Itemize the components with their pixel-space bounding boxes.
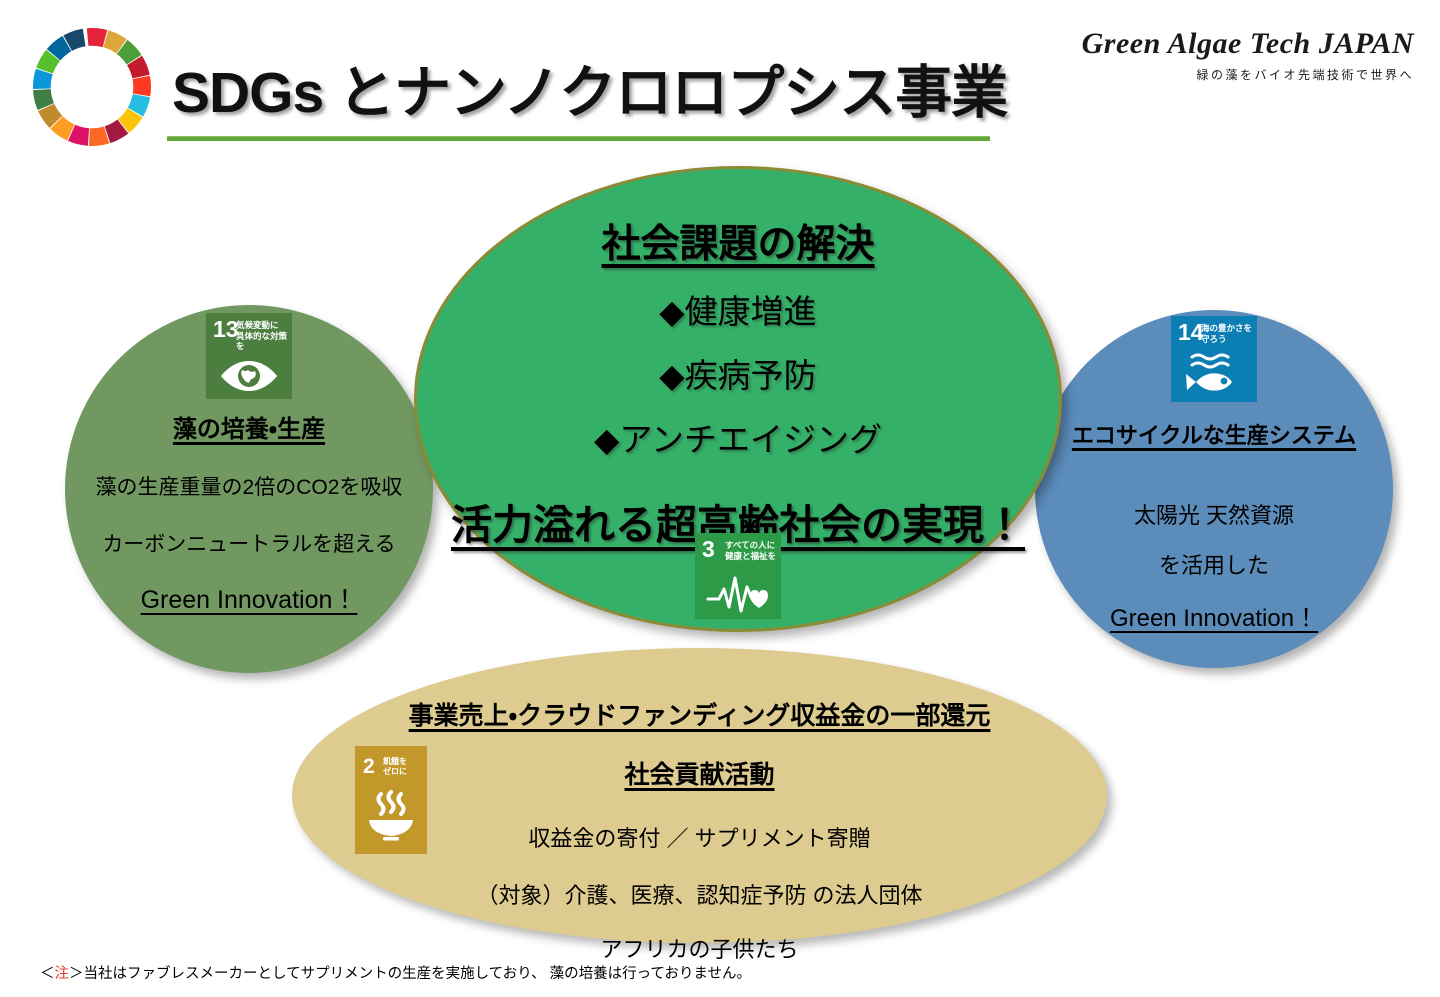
slide-header: SDGs とナンノクロロプシス事業 Green Algae Tech JAPAN…	[0, 0, 1440, 155]
circle-right-text: エコサイクルな生産システム 太陽光 天然資源 を活用した Green Innov…	[1035, 418, 1393, 633]
sdg-badge-13: 13 気候変動に 具体的な対策を	[206, 313, 292, 399]
brand-block: Green Algae Tech JAPAN 緑の藻をバイオ先端技術で世界へ	[1082, 27, 1414, 83]
ellipse-bottom-line-2: （対象）介護、医療、認知症予防 の法人団体	[292, 878, 1107, 910]
footnote: ＜注＞当社はファブレスメーカーとしてサプリメントの生産を実施しており、 藻の培養…	[40, 962, 751, 983]
ellipse-center-bullet-1: ◆健康増進	[417, 285, 1059, 333]
eye-globe-icon	[206, 359, 292, 393]
ellipse-bottom-title: 事業売上・クラウドファンディング収益金の一部還元	[292, 696, 1107, 732]
sdg-badge-14: 14 海の豊かさを 守ろう	[1171, 316, 1257, 402]
ellipse-bottom-title-2: 社会貢献活動	[292, 755, 1107, 791]
circle-left-title: 藻の培養・生産	[65, 409, 433, 444]
page-title: SDGs とナンノクロロプシス事業	[172, 47, 1007, 129]
circle-eco-cycle-system: 14 海の豊かさを 守ろう エコサイクルな生産システム 太陽光 天然資源 を活用…	[1035, 310, 1393, 668]
circle-left-line-3: Green Innovation！	[65, 580, 433, 616]
sdg-badge-caption: 海の豊かさを 守ろう	[1201, 323, 1252, 344]
sdg-badge-caption: 気候変動に 具体的な対策を	[236, 320, 292, 352]
sdg-badge-number: 14	[1178, 321, 1204, 344]
circle-left-line-1: 藻の生産重量の2倍のCO2を吸収	[65, 471, 433, 501]
ellipse-social-contribution: 2 飢餓を ゼロに 事業売上・クラウドファンディング収益金の一部還元 社会貢献活…	[292, 648, 1107, 943]
circle-right-line-2: を活用した	[1035, 548, 1393, 580]
fish-waves-icon	[1171, 352, 1257, 396]
ellipse-center-bullet-3: ◆アンチエイジング	[417, 413, 1059, 461]
ellipse-center-bullet-2: ◆疾病予防	[417, 349, 1059, 397]
heartbeat-heart-icon	[695, 575, 781, 613]
circle-right-line-1: 太陽光 天然資源	[1035, 498, 1393, 530]
ellipse-social-issue-solution: 社会課題の解決 ◆健康増進 ◆疾病予防 ◆アンチエイジング 活力溢れる超高齢社会…	[414, 166, 1062, 632]
footnote-text: 当社はファブレスメーカーとしてサプリメントの生産を実施しており、 藻の培養は行っ…	[84, 966, 752, 982]
footnote-marker-word: 注	[55, 966, 70, 982]
sdg-badge-3: 3 すべての人に 健康と福祉を	[695, 533, 781, 619]
circle-right-line-3: Green Innovation！	[1035, 598, 1393, 633]
brand-name: Green Algae Tech JAPAN	[1082, 27, 1414, 61]
sdg-badge-number: 3	[702, 538, 715, 561]
ellipse-center-text: 社会課題の解決 ◆健康増進 ◆疾病予防 ◆アンチエイジング 活力溢れる超高齢社会…	[417, 213, 1059, 551]
title-underline-rule	[167, 136, 990, 141]
ellipse-center-title: 社会課題の解決	[417, 213, 1059, 269]
brand-tagline: 緑の藻をバイオ先端技術で世界へ	[1082, 66, 1414, 83]
sdg-color-wheel-icon	[33, 28, 151, 146]
ellipse-bottom-line-1: 収益金の寄付 ／ サプリメント寄贈	[292, 821, 1107, 853]
circle-left-text: 藻の培養・生産 藻の生産重量の2倍のCO2を吸収 カーボンニュートラルを超える …	[65, 409, 433, 616]
footnote-marker-close: ＞	[69, 966, 84, 982]
footnote-marker-open: ＜	[40, 966, 55, 982]
circle-algae-cultivation: 13 気候変動に 具体的な対策を 藻の培養・生産 藻の生産重量の2倍のCO2を吸…	[65, 305, 433, 673]
sdg-badge-number: 13	[213, 318, 239, 341]
ellipse-bottom-line-3: アフリカの子供たち	[292, 932, 1107, 964]
circle-right-title: エコサイクルな生産システム	[1035, 418, 1393, 450]
circle-left-line-2: カーボンニュートラルを超える	[65, 528, 433, 558]
ellipse-bottom-text: 事業売上・クラウドファンディング収益金の一部還元 社会貢献活動 収益金の寄付 ／…	[292, 696, 1107, 964]
sdg-badge-caption: すべての人に 健康と福祉を	[725, 540, 776, 561]
